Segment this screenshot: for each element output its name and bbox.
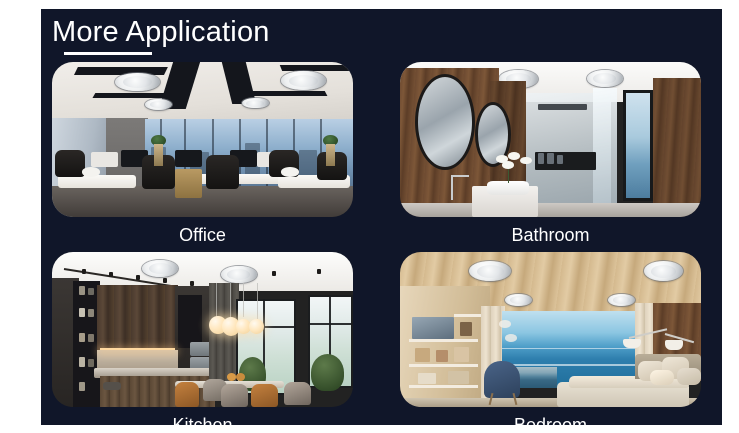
page-title: More Application [52,14,352,50]
card-caption-office: Office [52,217,353,248]
bedroom-scene [400,252,701,407]
ceiling-speaker-icon [142,260,178,277]
application-card-office[interactable]: Office [52,62,353,248]
ceiling-speaker-icon [221,266,257,283]
card-caption-kitchen: Kitchen [52,407,353,425]
application-card-kitchen[interactable]: Kitchen [52,252,353,425]
kitchen-scene [52,252,353,407]
section-header: More Application [52,14,352,60]
bathroom-scene [400,62,701,217]
bedroom-thumbnail[interactable] [400,252,701,407]
content-panel: More Application [41,9,722,425]
office-scene [52,62,353,217]
kitchen-thumbnail[interactable] [52,252,353,407]
card-caption-bathroom: Bathroom [400,217,701,248]
application-card-bathroom[interactable]: Bathroom [400,62,701,248]
ceiling-speaker-icon [281,71,326,90]
application-card-bedroom[interactable]: Bedroom [400,252,701,425]
title-underline [64,52,152,55]
application-grid: Office [52,62,711,417]
office-thumbnail[interactable] [52,62,353,217]
page-root: More Application [0,0,739,433]
ceiling-speaker-icon [608,294,635,306]
card-caption-bedroom: Bedroom [400,407,701,425]
ceiling-speaker-icon [587,70,623,87]
bathroom-thumbnail[interactable] [400,62,701,217]
